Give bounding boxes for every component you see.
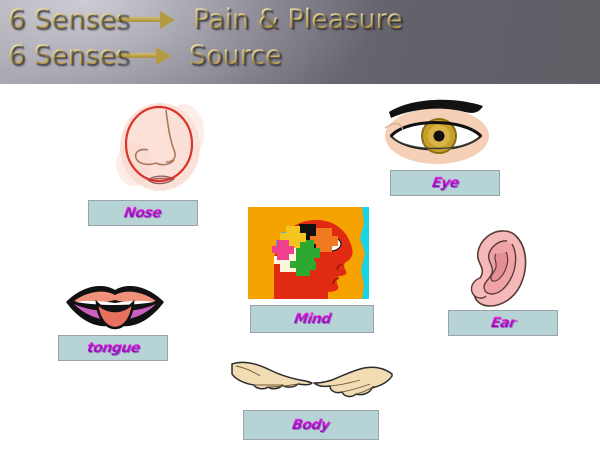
arrow-head [156,47,171,65]
caption-label-tongue: tongue [85,340,140,356]
caption-box-nose: Nose [88,200,198,226]
slide-canvas: 6 Senses Pain & Pleasure 6 Senses Source [0,0,600,450]
tongue-illustration-icon [62,280,168,332]
title-row-2-left: 6 Senses [8,40,120,71]
caption-label-ear: Ear [490,315,517,331]
caption-label-mind: Mind [293,311,332,327]
caption-box-tongue: tongue [58,335,168,361]
caption-box-mind: Mind [250,305,374,333]
caption-box-ear: Ear [448,310,558,336]
title-row-2-right: Source [171,40,282,71]
arrow-head [160,11,175,29]
body-illustration-icon [228,358,396,406]
ear-illustration-icon [458,226,536,310]
title-row-2: 6 Senses Source [8,40,282,71]
title-banner: 6 Senses Pain & Pleasure 6 Senses Source [0,0,600,84]
caption-label-eye: Eye [431,175,460,191]
caption-label-nose: Nose [123,205,162,221]
title-row-1-left: 6 Senses [8,4,120,35]
mind-illustration-icon [244,204,372,302]
caption-label-body: Body [291,417,331,433]
nose-illustration-icon [104,92,208,194]
eye-illustration-icon [383,92,491,166]
caption-box-body: Body [243,410,379,440]
title-row-1-right: Pain & Pleasure [175,4,403,35]
title-row-1: 6 Senses Pain & Pleasure [8,4,403,35]
caption-box-eye: Eye [390,170,500,196]
